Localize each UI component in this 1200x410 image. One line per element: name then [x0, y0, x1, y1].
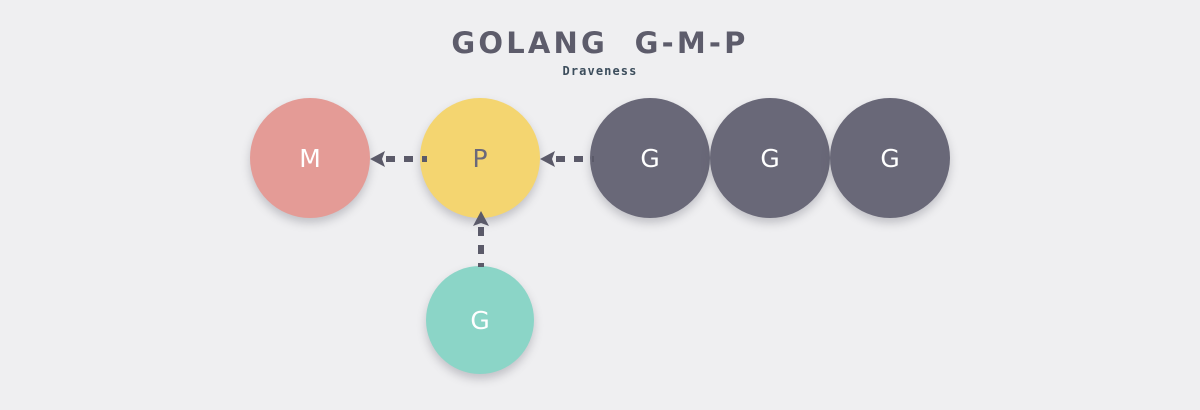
node-label-g2: G: [760, 146, 779, 171]
node-p[interactable]: P: [420, 98, 540, 218]
edge-g1-to-p: [540, 150, 594, 168]
node-m[interactable]: M: [250, 98, 370, 218]
page-title: GOLANG G-M-P: [0, 26, 1200, 60]
node-g3[interactable]: G: [830, 98, 950, 218]
diagram-canvas: GOLANG G-M-P Draveness MPGGGG: [0, 0, 1200, 410]
node-label-g3: G: [880, 146, 899, 171]
node-label-m: M: [299, 146, 321, 171]
node-g0[interactable]: G: [426, 266, 534, 374]
node-label-g1: G: [640, 146, 659, 171]
node-g2[interactable]: G: [710, 98, 830, 218]
edge-p-to-m: [370, 150, 427, 168]
edge-g0-to-p: [472, 211, 490, 267]
node-g1[interactable]: G: [590, 98, 710, 218]
node-label-g0: G: [470, 308, 489, 333]
arrowhead-icon: [370, 151, 385, 167]
node-label-p: P: [472, 146, 487, 171]
page-subtitle: Draveness: [0, 64, 1200, 78]
arrowhead-icon: [540, 151, 555, 167]
arrowhead-icon: [473, 211, 489, 226]
